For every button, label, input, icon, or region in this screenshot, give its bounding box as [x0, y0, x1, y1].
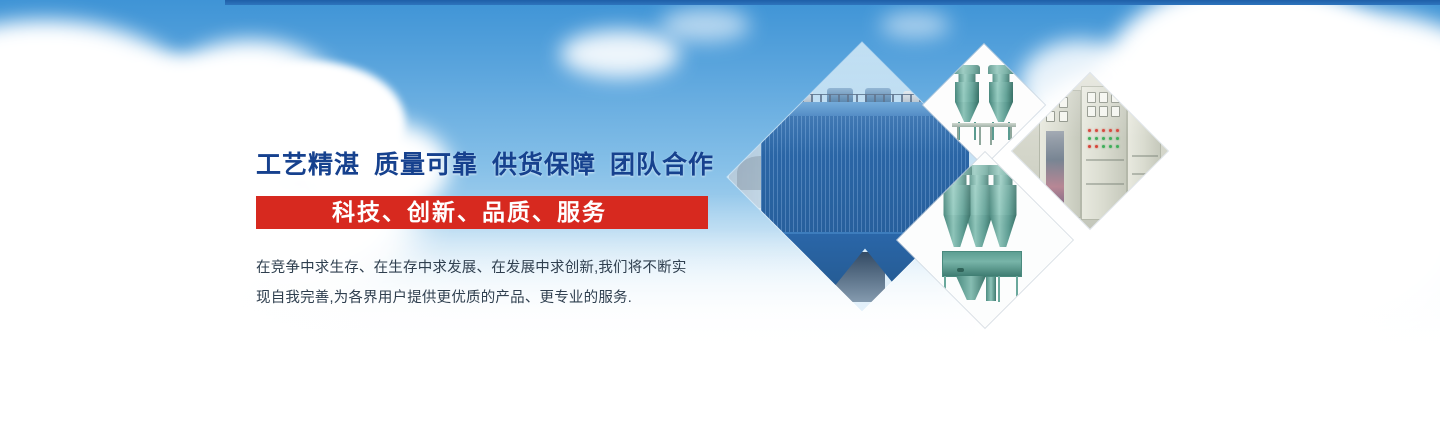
banner-paragraph: 在竞争中求生存、在生存中求发展、在发展中求创新,我们将不断实 现自我完善,为各界…	[256, 253, 734, 313]
slogan-bar: 科技、创新、品质、服务	[256, 196, 708, 229]
headline-segment-1: 工艺精湛	[256, 151, 360, 179]
headline-segment-3: 供货保障	[492, 151, 596, 179]
slogan-text: 科技、创新、品质、服务	[332, 201, 607, 224]
banner-text-block: 工艺精湛质量可靠供货保障团队合作 科技、创新、品质、服务 在竞争中求生存、在生存…	[256, 150, 776, 313]
top-accent-strip	[225, 0, 1440, 5]
hero-banner: 工艺精湛质量可靠供货保障团队合作 科技、创新、品质、服务 在竞争中求生存、在生存…	[0, 0, 1440, 440]
product-photo-collage	[745, 38, 1165, 383]
triple-cyclone-glyph	[942, 165, 1032, 295]
paragraph-line-1: 在竞争中求生存、在生存中求发展、在发展中求创新,我们将不断实	[256, 253, 734, 283]
open-cabinet-door	[1046, 131, 1064, 227]
banner-headline: 工艺精湛质量可靠供货保障团队合作	[256, 150, 776, 180]
twin-cyclone-glyph	[952, 65, 1016, 145]
paragraph-line-2: 现自我完善,为各界用户提供更优质的产品、更专业的服务.	[256, 283, 734, 313]
headline-segment-4: 团队合作	[610, 151, 714, 179]
headline-segment-2: 质量可靠	[374, 151, 478, 179]
exhaust-stack-icon	[801, 64, 805, 94]
